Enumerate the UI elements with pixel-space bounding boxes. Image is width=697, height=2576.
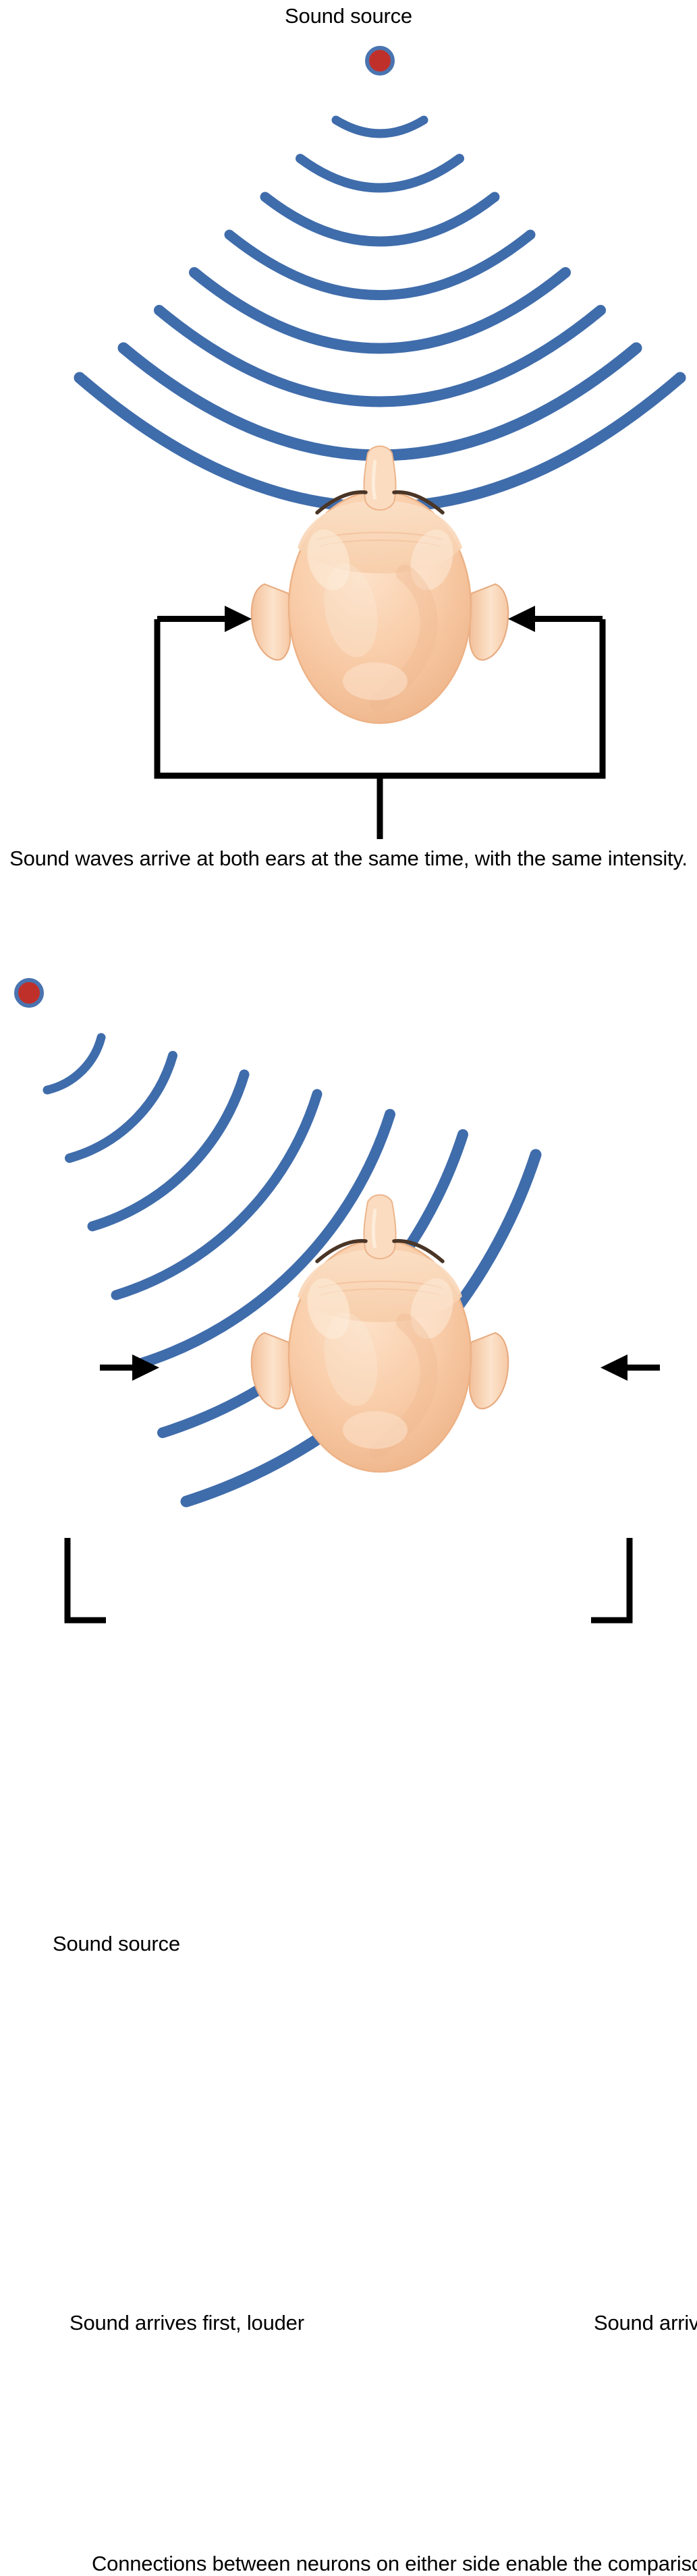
sound-source-marker-midline xyxy=(367,48,393,74)
left-ear-annotation: Sound arrives first, louder xyxy=(69,2310,177,2335)
sound-source-marker-lateral xyxy=(16,980,42,1006)
arrow-to-left-ear xyxy=(157,606,252,632)
sound-source-label-lateral: Sound source xyxy=(53,1932,180,1956)
sound-wave-arcs-lateral xyxy=(47,1037,536,1501)
caption-midline: Sound waves arrive at both ears at the s… xyxy=(0,846,697,871)
head-top-view-midline xyxy=(252,447,508,724)
bracket-lateral xyxy=(67,1538,630,1620)
figure-canvas: Sound source Sound waves arrive at both … xyxy=(0,0,697,1727)
panel-midline-source: Sound source Sound waves arrive at both … xyxy=(0,0,697,938)
panel-lateral-source: Sound source Sound arrives first, louder… xyxy=(0,938,697,1727)
midline-diagram-svg xyxy=(0,0,697,938)
right-ear-annotation: Sound arrives later, softer xyxy=(594,2310,697,2335)
arrow-to-right-ear xyxy=(508,606,603,632)
sound-source-label-midline: Sound source xyxy=(0,4,697,28)
caption-lateral: Connections between neurons on either si… xyxy=(92,2551,605,2576)
lateral-diagram-svg xyxy=(0,938,697,1727)
arrow-to-right-ear-lateral xyxy=(601,1354,660,1381)
head-top-view-lateral xyxy=(252,1195,508,1472)
